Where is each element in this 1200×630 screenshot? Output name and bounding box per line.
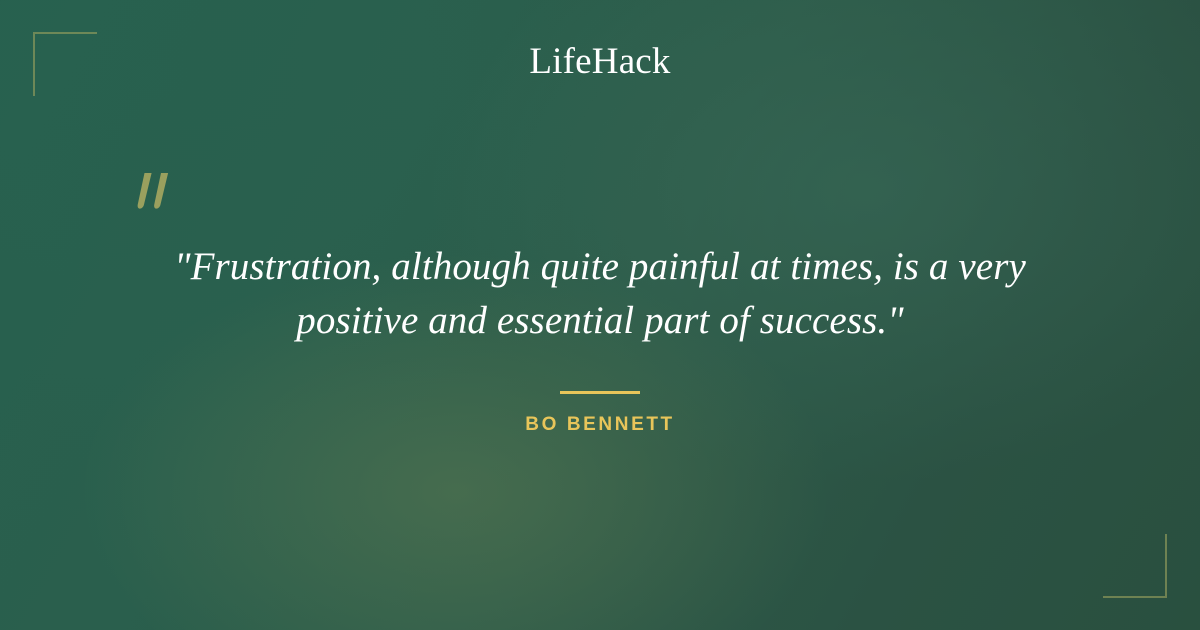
- quotation-mark-icon: [131, 171, 183, 219]
- quote-line-1: "Frustration, although quite painful at …: [174, 245, 1026, 288]
- quote-line-2: positive and essential part of success.": [296, 299, 903, 342]
- quote-text: "Frustration, although quite painful at …: [110, 240, 1090, 348]
- lifehack-logo: LifeHack: [0, 40, 1200, 84]
- divider-container: [0, 381, 1200, 399]
- author-name: BO BENNETT: [0, 412, 1200, 438]
- corner-bracket-bottom-right-icon: [1103, 534, 1167, 598]
- gold-divider: [560, 391, 640, 394]
- quote-card: LifeHack "Frustration, although quite pa…: [0, 0, 1200, 630]
